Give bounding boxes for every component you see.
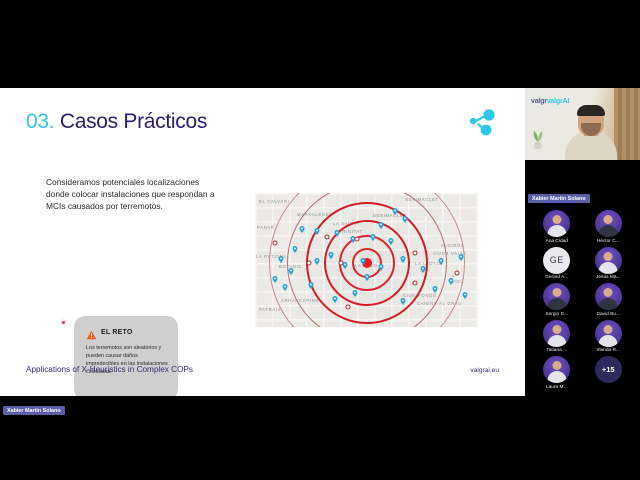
facility-pin xyxy=(293,246,298,253)
active-speaker-name-badge: Xabier Martin Solano xyxy=(528,194,590,203)
earthquake-map: EL CALVARI BENIMACLET MARXALENES BENIMAC… xyxy=(255,193,478,327)
facility-pin xyxy=(421,266,426,273)
avatar xyxy=(595,320,622,347)
plant-decor-icon xyxy=(530,128,546,150)
facility-pin xyxy=(309,282,314,289)
participant-tile[interactable]: Laura M... xyxy=(531,356,583,390)
facility-pin xyxy=(353,290,358,297)
bottom-speaker-name-badge: Xabier Martin Solano xyxy=(3,406,65,415)
participant-tile[interactable]: GE Gerard A... xyxy=(531,247,583,281)
map-label: PANAR xyxy=(257,225,275,230)
footer-url: valgrai.eu xyxy=(470,367,499,374)
page-title: 03. Casos Prácticos xyxy=(26,110,207,134)
avatar xyxy=(543,356,570,383)
meeting-screen: 03. Casos Prácticos Consideramos potenci… xyxy=(0,0,640,480)
avatar xyxy=(543,210,570,237)
avatar-initials: GE xyxy=(543,247,570,274)
valgrai-wall-logo: valgrvalgrAI xyxy=(531,98,569,105)
participant-name: Tatiana ... xyxy=(546,348,567,353)
wood-wall-decor xyxy=(614,88,640,160)
map-label: PATRAIX xyxy=(259,307,281,312)
participant-name: Gerard A... xyxy=(545,275,568,280)
facility-pin xyxy=(439,258,444,265)
map-label: EL CALVARI xyxy=(259,199,289,204)
damaged-site-marker xyxy=(273,241,278,246)
facility-pin xyxy=(379,222,384,229)
damaged-site-marker xyxy=(355,237,360,242)
damaged-site-marker xyxy=(413,281,418,286)
avatar xyxy=(543,283,570,310)
facility-pin xyxy=(449,278,454,285)
avatar xyxy=(595,210,622,237)
footer-title: Applications of X-Heuristics in Complex … xyxy=(26,365,193,374)
participants-panel: valgrvalgrAI Xabier Martin Solano Ana Ci… xyxy=(525,88,640,398)
participant-overflow-tile[interactable]: +15 xyxy=(583,356,635,390)
participant-tile[interactable]: Irlanda R... xyxy=(583,320,635,354)
participant-tile[interactable]: Ana Cidad xyxy=(531,210,583,244)
participant-tile[interactable]: David Bu... xyxy=(583,283,635,317)
title-number: 03. xyxy=(26,110,54,133)
facility-pin xyxy=(459,254,464,261)
participant-tile[interactable]: Héctor C... xyxy=(583,210,635,244)
shared-slide: 03. Casos Prácticos Consideramos potenci… xyxy=(0,88,525,396)
alert-dot-icon xyxy=(60,319,67,326)
facility-pin xyxy=(401,256,406,263)
facility-pin xyxy=(279,256,284,263)
facility-pin xyxy=(371,234,376,241)
damaged-site-marker xyxy=(307,261,312,266)
participant-name: Ana Cidad xyxy=(546,239,568,244)
facility-pin xyxy=(315,258,320,265)
slide-footer: Applications of X-Heuristics in Complex … xyxy=(26,365,499,374)
facility-pin xyxy=(401,298,406,305)
title-text: Casos Prácticos xyxy=(60,110,207,133)
damaged-site-marker xyxy=(346,305,351,310)
avatar xyxy=(543,320,570,347)
facility-pin xyxy=(329,252,334,259)
participant-name: Irlanda R... xyxy=(597,348,620,353)
facility-pin xyxy=(300,226,305,233)
challenge-title: EL RETO xyxy=(101,329,132,336)
damaged-site-marker xyxy=(413,251,418,256)
participant-name: Jesús Mā... xyxy=(596,275,621,280)
damaged-site-marker xyxy=(339,261,344,266)
facility-pin xyxy=(433,286,438,293)
valgrai-node-logo-icon xyxy=(465,108,497,138)
facility-pin xyxy=(393,208,398,215)
facility-pin xyxy=(403,216,408,223)
avatar xyxy=(595,283,622,310)
warning-triangle-icon xyxy=(86,327,97,337)
damaged-site-marker xyxy=(325,235,330,240)
facility-pin xyxy=(283,284,288,291)
participant-name: Sergio D... xyxy=(545,312,568,317)
participant-tile[interactable]: Sergio D... xyxy=(531,283,583,317)
facility-pin xyxy=(463,292,468,299)
damaged-site-marker xyxy=(455,271,460,276)
facility-pin xyxy=(365,274,370,281)
facility-pin xyxy=(333,296,338,303)
participant-thumbnails: Ana Cidad Héctor C... GE Gerard A... Jes… xyxy=(525,210,640,390)
avatar xyxy=(595,247,622,274)
participant-tile[interactable]: Jesús Mā... xyxy=(583,247,635,281)
challenge-card: EL RETO Los terremotos son aleatorios y … xyxy=(74,316,178,396)
participant-tile[interactable]: Tatiana ... xyxy=(531,320,583,354)
facility-pin xyxy=(315,228,320,235)
facility-pin xyxy=(335,230,340,237)
facility-pin xyxy=(361,258,366,265)
participant-name: Héctor C... xyxy=(597,239,620,244)
slide-body-text: Consideramos potenciales localizaciones … xyxy=(46,176,218,213)
facility-pin xyxy=(379,264,384,271)
participant-name: David Bu... xyxy=(597,312,620,317)
facility-pin xyxy=(289,268,294,275)
participant-name: Laura M... xyxy=(546,385,568,390)
speaker-avatar xyxy=(565,104,617,160)
facility-pin xyxy=(389,238,394,245)
facility-pin xyxy=(273,276,278,283)
overflow-count-badge: +15 xyxy=(595,356,622,383)
active-speaker-video[interactable]: valgrvalgrAI xyxy=(525,88,640,160)
